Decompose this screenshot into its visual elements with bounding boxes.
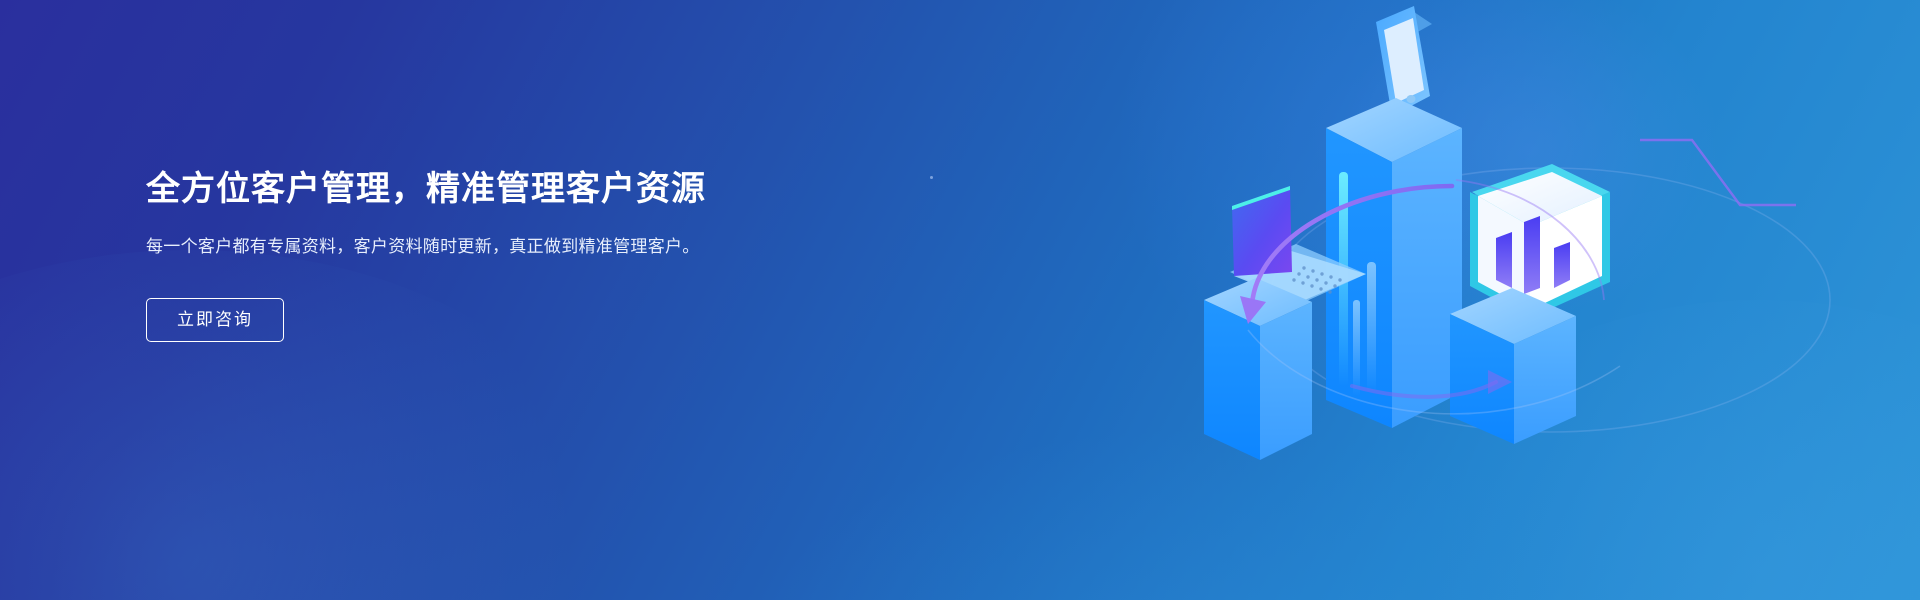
sparkle-dot xyxy=(930,176,933,179)
pillar-accent-bar-2 xyxy=(1367,262,1376,392)
pillar-left-front xyxy=(1204,300,1260,460)
page-title: 全方位客户管理，精准管理客户资源 xyxy=(146,168,786,211)
isometric-pillars-svg xyxy=(1200,0,1920,600)
pillar-left-side xyxy=(1260,302,1312,460)
chart-bar-3 xyxy=(1554,242,1570,288)
consult-now-button[interactable]: 立即咨询 xyxy=(146,298,284,342)
hero-copy-block: 全方位客户管理，精准管理客户资源 每一个客户都有专属资料，客户资料随时更新，真正… xyxy=(146,168,786,342)
chart-bar-1 xyxy=(1496,232,1512,288)
chart-bar-2 xyxy=(1524,216,1540,294)
hero-subtitle: 每一个客户都有专属资料，客户资料随时更新，真正做到精准管理客户。 xyxy=(146,233,734,261)
hero-illustration xyxy=(1200,0,1920,600)
tablet-home-button xyxy=(1407,95,1416,103)
pillar-accent-bar-3 xyxy=(1353,300,1360,396)
hero-banner: 全方位客户管理，精准管理客户资源 每一个客户都有专属资料，客户资料随时更新，真正… xyxy=(0,0,1920,600)
